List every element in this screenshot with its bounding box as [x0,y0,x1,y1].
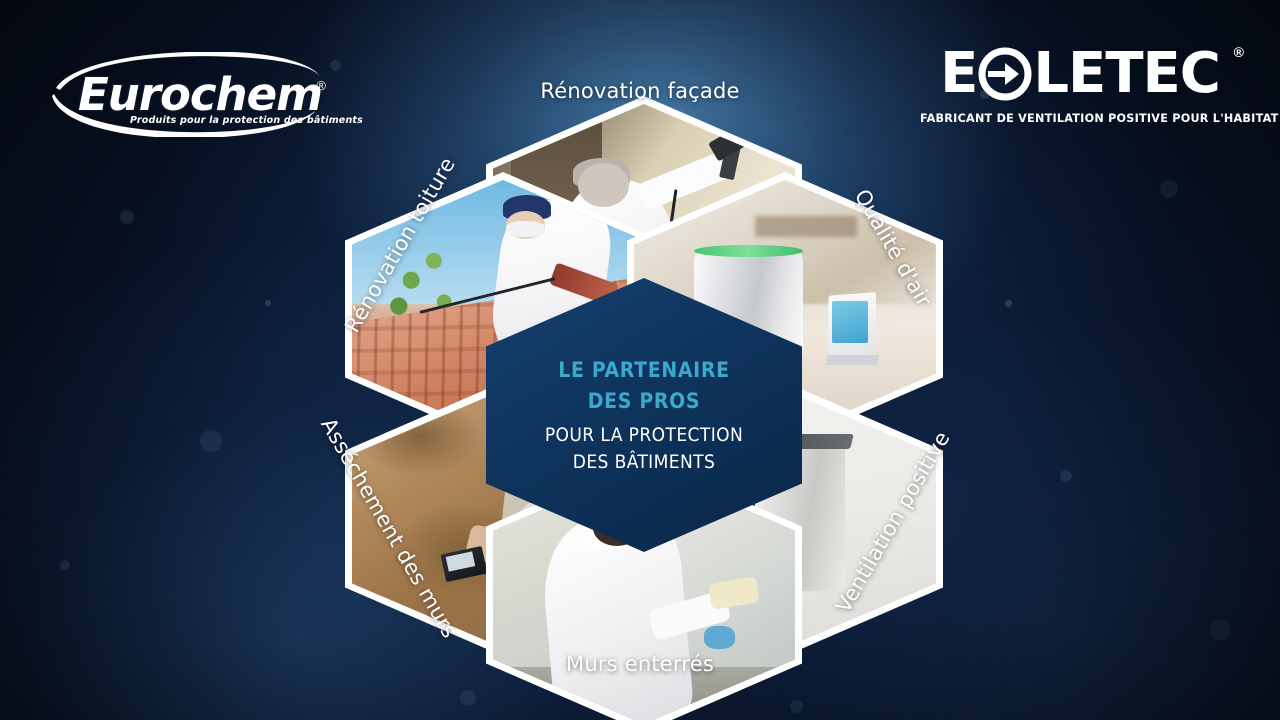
registered-mark-icon: ® [316,78,326,93]
slogan-line-4: DES BÂTIMENTS [573,451,716,473]
eoletec-circle-arrow-icon [978,47,1032,101]
eoletec-wordmark-e: E [940,46,977,102]
registered-mark-icon-2: ® [1234,44,1244,60]
slogan-line-3: POUR LA PROTECTION [545,424,743,446]
eurochem-wordmark: Eurochem [78,68,322,121]
slogan-line-1: LE PARTENAIRE [558,358,729,382]
label-renovation-facade: Rénovation façade [540,79,739,103]
eurochem-logo: Eurochem ® Produits pour la protection d… [52,52,322,137]
eoletec-wordmark-letec: LETEC [1033,46,1220,102]
eoletec-logo: E LETEC ® FABRICANT DE VENTILATION POSIT… [920,44,1240,136]
eoletec-tagline: FABRICANT DE VENTILATION POSITIVE POUR L… [920,112,1240,125]
slogan-line-2: DES PROS [588,389,700,413]
eurochem-tagline: Produits pour la protection des bâtiment… [130,115,363,126]
label-murs-enterres: Murs enterrés [566,652,714,676]
